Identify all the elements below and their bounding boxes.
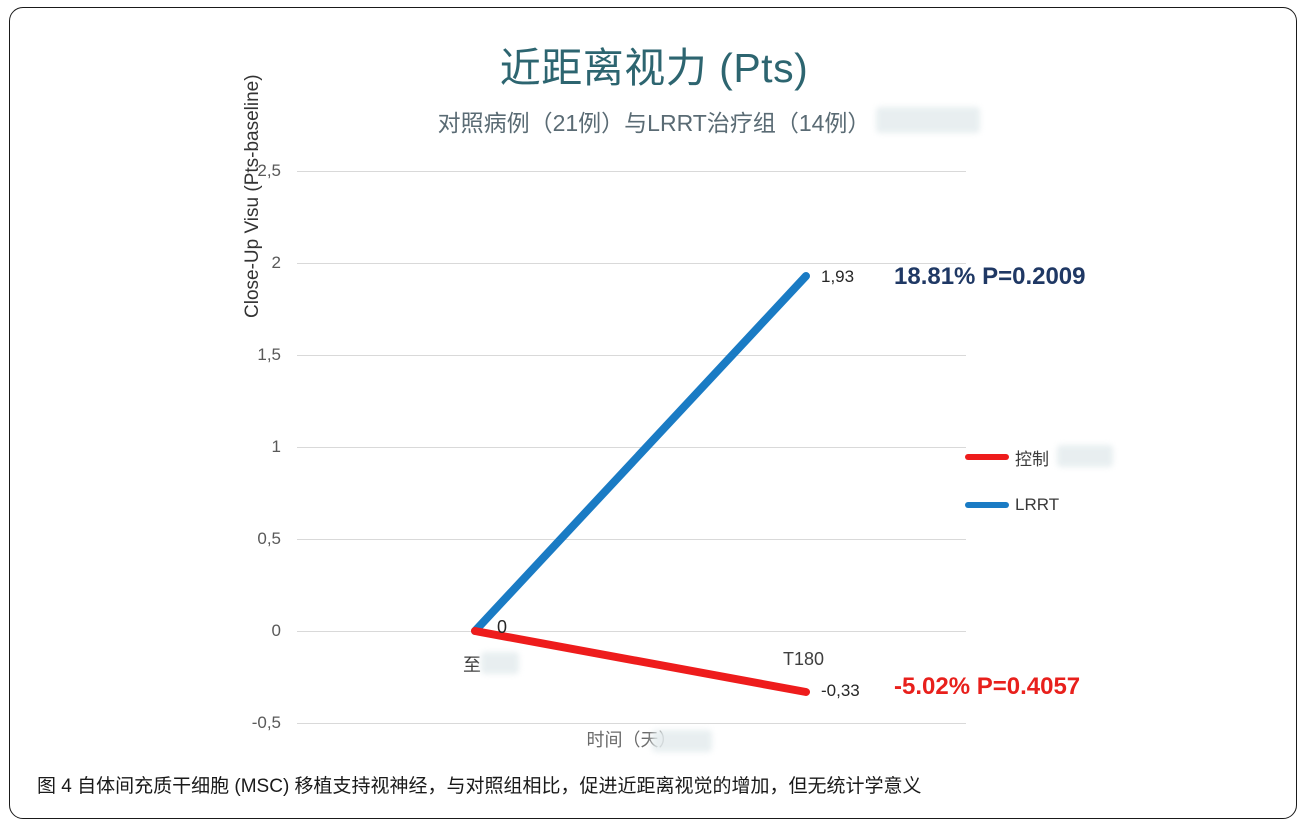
y-axis-title: Close-Up Visu (Pts-baseline) — [242, 74, 264, 318]
x-tick-label-baseline: 至 — [463, 651, 481, 677]
y-tick-label: 2,5 — [257, 161, 281, 181]
plot-area: 2,5 2 1,5 1 0,5 0 -0,5 — [297, 171, 966, 723]
legend-label-control: 控制 — [1015, 445, 1049, 470]
figure-page: 近距离视力 (Pts) 对照病例（21例）与LRRT治疗组（14例） Close… — [0, 0, 1308, 832]
x-tick-label-t180: T180 — [783, 649, 824, 670]
control-point-label: -0,33 — [821, 681, 860, 701]
y-tick-label: 0,5 — [257, 529, 281, 549]
chart-subtitle: 对照病例（21例）与LRRT治疗组（14例） — [10, 104, 1298, 138]
lrrt-point-label: 1,93 — [821, 267, 854, 287]
series-lines — [297, 171, 966, 723]
series-line-lrrt — [475, 276, 806, 631]
figure-caption: 图 4 自体间充质干细胞 (MSC) 移植支持视神经，与对照组相比，促进近距离视… — [37, 771, 922, 798]
figure-frame: 近距离视力 (Pts) 对照病例（21例）与LRRT治疗组（14例） Close… — [9, 7, 1297, 819]
legend-label-lrrt: LRRT — [1015, 495, 1059, 515]
y-tick-label: 1 — [272, 437, 281, 457]
gridline: -0,5 — [297, 723, 966, 724]
legend-item-lrrt[interactable]: LRRT — [965, 481, 1059, 529]
x-axis-title: 时间（天） — [297, 726, 966, 752]
x-tick-redaction-smudge — [481, 652, 519, 674]
legend-item-control[interactable]: 控制 — [965, 433, 1059, 481]
lrrt-stat-annotation: 18.81% P=0.2009 — [894, 263, 1086, 291]
control-stat-annotation: -5.02% P=0.4057 — [894, 673, 1080, 701]
x-axis-title-redaction-smudge — [652, 730, 712, 752]
subtitle-redaction-smudge — [876, 107, 980, 133]
legend-swatch-lrrt — [965, 502, 1009, 508]
y-tick-label: 2 — [272, 253, 281, 273]
series-line-control — [475, 631, 806, 692]
chart-title: 近距离视力 (Pts) — [10, 34, 1298, 94]
origin-point-label: 0 — [497, 617, 507, 638]
legend-redaction-smudge — [1057, 445, 1113, 467]
y-tick-label: 0 — [272, 621, 281, 641]
legend-swatch-control — [965, 454, 1009, 460]
chart-legend: 控制 LRRT — [965, 433, 1059, 529]
y-tick-label: -0,5 — [252, 713, 281, 733]
y-tick-label: 1,5 — [257, 345, 281, 365]
